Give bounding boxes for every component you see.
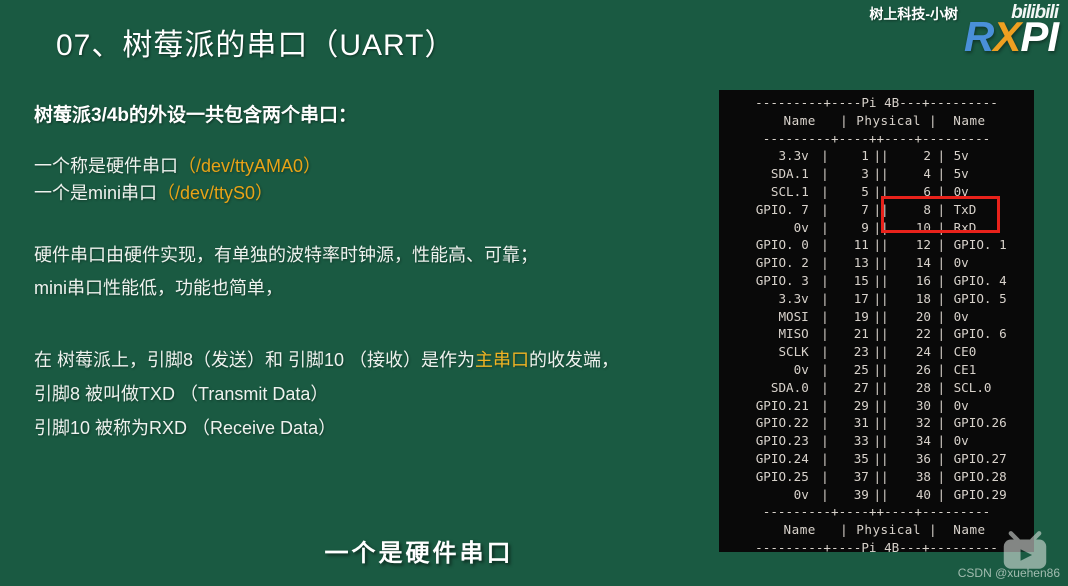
gpio-row-separator: ||	[869, 432, 893, 450]
gpio-row-separator: |	[931, 379, 952, 397]
gpio-row-separator: ||	[869, 486, 893, 504]
paragraph-comparison-line-2: mini串口性能低，功能也简单，	[34, 272, 704, 305]
gpio-row-name-right: GPIO. 5	[952, 290, 1034, 308]
gpio-row-pin-left: 9	[837, 219, 869, 237]
gpio-row-separator: |	[931, 486, 952, 504]
gpio-row-pin-right: 32	[893, 414, 931, 432]
gpio-row-separator: |	[813, 254, 837, 272]
gpio-row-name-left: 0v	[719, 486, 813, 504]
gpio-row-separator: ||	[869, 361, 893, 379]
rxpi-logo: RXPI	[964, 16, 1058, 58]
gpio-row-separator: |	[931, 397, 952, 415]
gpio-row-name-left: 3.3v	[719, 147, 813, 165]
bullet-hardware-uart-device: （/dev/ttyAMA0）	[178, 156, 321, 176]
gpio-row-pin-left: 31	[837, 414, 869, 432]
gpio-row-name-left: 0v	[719, 361, 813, 379]
gpio-row-name-left: SDA.0	[719, 379, 813, 397]
gpio-row-pin-right: 10	[893, 219, 931, 237]
gpio-row-pin-right: 8	[893, 201, 931, 219]
gpio-row-separator: ||	[869, 147, 893, 165]
gpio-row-separator: |	[931, 343, 952, 361]
gpio-row-separator: ||	[869, 308, 893, 326]
gpio-row-pin-right: 18	[893, 290, 931, 308]
gpio-row-name-right: RxD	[952, 219, 1034, 237]
gpio-row: GPIO. 2|13||14|0v	[719, 254, 1034, 272]
gpio-row: SCL.1|5||6|0v	[719, 183, 1034, 201]
gpio-row-name-right: GPIO.26	[952, 414, 1034, 432]
gpio-row: GPIO.25|37||38|GPIO.28	[719, 468, 1034, 486]
gpio-row: 3.3v|17||18|GPIO. 5	[719, 290, 1034, 308]
gpio-row-pin-left: 21	[837, 325, 869, 343]
gpio-row: GPIO.21|29||30|0v	[719, 397, 1034, 415]
gpio-row-name-left: GPIO.25	[719, 468, 813, 486]
gpio-row: SDA.1|3||4|5v	[719, 165, 1034, 183]
gpio-row-separator: |	[931, 219, 952, 237]
gpio-row-pin-left: 1	[837, 147, 869, 165]
gpio-row: GPIO.23|33||34|0v	[719, 432, 1034, 450]
gpio-row-pin-left: 17	[837, 290, 869, 308]
gpio-row-separator: |	[813, 219, 837, 237]
gpio-row-separator: |	[813, 201, 837, 219]
slide-caption: 一个是硬件串口	[0, 533, 1068, 568]
gpio-row: MISO|21||22|GPIO. 6	[719, 325, 1034, 343]
gpio-row-pin-left: 37	[837, 468, 869, 486]
gpio-row-name-left: GPIO. 3	[719, 272, 813, 290]
gpio-row-separator: ||	[869, 201, 893, 219]
pins-line-1-post: 的收发端，	[529, 350, 619, 370]
gpio-row-name-right: SCL.0	[952, 379, 1034, 397]
logo-letter-r: R	[964, 13, 993, 60]
gpio-row-pin-left: 3	[837, 165, 869, 183]
gpio-row-separator: |	[813, 290, 837, 308]
gpio-row: SDA.0|27||28|SCL.0	[719, 379, 1034, 397]
gpio-row-name-left: SDA.1	[719, 165, 813, 183]
gpio-row-separator: |	[931, 272, 952, 290]
gpio-row-name-right: CE1	[952, 361, 1034, 379]
gpio-row-separator: |	[813, 468, 837, 486]
gpio-row-pin-right: 30	[893, 397, 931, 415]
gpio-row-name-left: GPIO. 0	[719, 236, 813, 254]
gpio-row-pin-right: 4	[893, 165, 931, 183]
gpio-row-separator: ||	[869, 254, 893, 272]
gpio-row: GPIO. 3|15||16|GPIO. 4	[719, 272, 1034, 290]
gpio-row-name-left: MISO	[719, 325, 813, 343]
logo-letter-x: X	[993, 13, 1020, 60]
gpio-row-name-left: MOSI	[719, 308, 813, 326]
gpio-row-separator: ||	[869, 325, 893, 343]
gpio-row-separator: |	[931, 432, 952, 450]
slide-body: 树莓派3/4b的外设一共包含两个串口： 一个称是硬件串口（/dev/ttyAMA…	[34, 100, 704, 445]
gpio-row-separator: |	[813, 486, 837, 504]
gpio-row-name-right: GPIO.28	[952, 468, 1034, 486]
gpio-row-separator: |	[813, 450, 837, 468]
gpio-row-pin-right: 2	[893, 147, 931, 165]
gpio-row-separator: |	[931, 450, 952, 468]
gpio-row: 0v|25||26|CE1	[719, 361, 1034, 379]
gpio-row-separator: |	[813, 343, 837, 361]
gpio-row-separator: |	[931, 147, 952, 165]
gpio-row-separator: ||	[869, 343, 893, 361]
gpio-row-name-right: GPIO. 6	[952, 325, 1034, 343]
channel-name: 树上科技-小树	[869, 4, 958, 24]
paragraph-pins: 在 树莓派上，引脚8（发送）和 引脚10 （接收）是作为主串口的收发端， 引脚8…	[34, 343, 704, 445]
paragraph-pins-line-3: 引脚10 被称为RXD （Receive Data）	[34, 411, 704, 445]
gpio-row-separator: |	[813, 183, 837, 201]
bullet-mini-uart-device: （/dev/ttyS0）	[157, 183, 273, 203]
gpio-row-pin-right: 24	[893, 343, 931, 361]
gpio-row-pin-right: 12	[893, 236, 931, 254]
gpio-row-pin-right: 38	[893, 468, 931, 486]
gpio-row-name-left: GPIO. 7	[719, 201, 813, 219]
gpio-row-separator: ||	[869, 236, 893, 254]
gpio-row-separator: ||	[869, 219, 893, 237]
gpio-row-separator: |	[813, 432, 837, 450]
gpio-row-pin-left: 25	[837, 361, 869, 379]
gpio-row-list: 3.3v|1||2|5vSDA.1|3||4|5vSCL.1|5||6|0vGP…	[719, 147, 1034, 503]
gpio-row-separator: |	[931, 325, 952, 343]
gpio-row-name-left: GPIO.24	[719, 450, 813, 468]
slide-canvas: 07、树莓派的串口（UART） 树上科技-小树 bilibili RXPI 树莓…	[0, 0, 1068, 586]
gpio-row-name-right: GPIO. 4	[952, 272, 1034, 290]
gpio-row-pin-right: 34	[893, 432, 931, 450]
page-title: 07、树莓派的串口（UART）	[56, 20, 456, 64]
gpio-row: GPIO. 7|7||8|TxD	[719, 201, 1034, 219]
gpio-row-pin-left: 39	[837, 486, 869, 504]
terminal-header-top: Name | Physical | Name	[719, 112, 1034, 130]
slide-caption-text: 一个是硬件串口	[325, 533, 514, 568]
gpio-row-pin-left: 29	[837, 397, 869, 415]
pins-line-1-pre: 在 树莓派上，引脚8（发送）和 引脚10 （接收）是作为	[34, 350, 475, 370]
gpio-row-name-left: 3.3v	[719, 290, 813, 308]
gpio-row-pin-right: 22	[893, 325, 931, 343]
gpio-row-pin-right: 26	[893, 361, 931, 379]
logo-letter-pi: PI	[1020, 13, 1058, 60]
csdn-watermark: CSDN @xuehen86	[958, 566, 1060, 580]
gpio-row: GPIO. 0|11||12|GPIO. 1	[719, 236, 1034, 254]
gpio-row-pin-right: 40	[893, 486, 931, 504]
gpio-row-name-right: 0v	[952, 397, 1034, 415]
gpio-row-name-right: CE0	[952, 343, 1034, 361]
gpio-row-pin-left: 33	[837, 432, 869, 450]
gpio-row-pin-right: 6	[893, 183, 931, 201]
gpio-row-separator: ||	[869, 183, 893, 201]
bullet-mini-uart-label: 一个是mini串口	[34, 183, 157, 203]
gpio-row-separator: |	[813, 272, 837, 290]
gpio-row-separator: |	[931, 165, 952, 183]
gpio-row: 0v|9||10|RxD	[719, 219, 1034, 237]
gpio-row-separator: ||	[869, 414, 893, 432]
gpio-row-separator: |	[931, 468, 952, 486]
gpio-row-name-right: TxD	[952, 201, 1034, 219]
gpio-row-name-right: 0v	[952, 432, 1034, 450]
gpio-row-separator: ||	[869, 290, 893, 308]
gpio-row-separator: |	[813, 308, 837, 326]
gpio-row-pin-left: 11	[837, 236, 869, 254]
gpio-row-pin-left: 35	[837, 450, 869, 468]
gpio-row-name-right: 0v	[952, 254, 1034, 272]
gpio-row-separator: |	[931, 254, 952, 272]
gpio-row-separator: ||	[869, 450, 893, 468]
gpio-row-pin-right: 20	[893, 308, 931, 326]
gpio-row-name-right: 5v	[952, 165, 1034, 183]
gpio-row: GPIO.22|31||32|GPIO.26	[719, 414, 1034, 432]
gpio-row-separator: |	[931, 361, 952, 379]
gpio-row-separator: |	[813, 361, 837, 379]
gpio-row-pin-left: 19	[837, 308, 869, 326]
gpio-row-name-right: 5v	[952, 147, 1034, 165]
bullet-mini-uart: 一个是mini串口（/dev/ttyS0）	[34, 180, 704, 207]
gpio-row-separator: ||	[869, 165, 893, 183]
gpio-row-separator: |	[931, 183, 952, 201]
gpio-row-separator: ||	[869, 379, 893, 397]
paragraph-pins-line-1: 在 树莓派上，引脚8（发送）和 引脚10 （接收）是作为主串口的收发端，	[34, 343, 704, 377]
gpio-row-name-right: GPIO.27	[952, 450, 1034, 468]
gpio-row-separator: |	[813, 147, 837, 165]
gpio-row-pin-left: 13	[837, 254, 869, 272]
gpio-row-separator: ||	[869, 397, 893, 415]
gpio-row: 3.3v|1||2|5v	[719, 147, 1034, 165]
gpio-row-name-right: 0v	[952, 308, 1034, 326]
paragraph-comparison-line-1: 硬件串口由硬件实现，有单独的波特率时钟源，性能高、可靠；	[34, 239, 704, 272]
gpio-row: MOSI|19||20|0v	[719, 308, 1034, 326]
gpio-row-separator: |	[813, 397, 837, 415]
gpio-row-separator: |	[813, 325, 837, 343]
gpio-row-name-left: 0v	[719, 219, 813, 237]
terminal-rule-top: ---------+----Pi 4B---+---------	[719, 94, 1034, 112]
gpio-row-separator: |	[813, 165, 837, 183]
gpio-row-name-left: SCL.1	[719, 183, 813, 201]
gpio-row-pin-left: 23	[837, 343, 869, 361]
gpio-row-pin-right: 36	[893, 450, 931, 468]
gpio-row-name-left: GPIO.21	[719, 397, 813, 415]
gpio-row-separator: |	[931, 414, 952, 432]
terminal-rule-mid: ---------+----++----+---------	[719, 130, 1034, 148]
gpio-row-separator: ||	[869, 272, 893, 290]
paragraph-comparison: 硬件串口由硬件实现，有单独的波特率时钟源，性能高、可靠； mini串口性能低，功…	[34, 239, 704, 305]
gpio-row-separator: |	[931, 201, 952, 219]
bullet-hardware-uart: 一个称是硬件串口（/dev/ttyAMA0）	[34, 153, 704, 180]
gpio-row-pin-right: 16	[893, 272, 931, 290]
gpio-row-separator: |	[931, 308, 952, 326]
terminal-rule-bottom: ---------+----++----+---------	[719, 503, 1034, 521]
gpio-row-name-right: GPIO. 1	[952, 236, 1034, 254]
gpio-row-separator: |	[813, 414, 837, 432]
gpio-row-name-right: GPIO.29	[952, 486, 1034, 504]
gpio-row-name-left: SCLK	[719, 343, 813, 361]
paragraph-pins-line-2: 引脚8 被叫做TXD （Transmit Data）	[34, 377, 704, 411]
gpio-row: SCLK|23||24|CE0	[719, 343, 1034, 361]
gpio-row-pin-left: 7	[837, 201, 869, 219]
pins-line-1-highlight: 主串口	[475, 350, 529, 370]
gpio-row-separator: ||	[869, 468, 893, 486]
gpio-row-pin-left: 5	[837, 183, 869, 201]
gpio-row-pin-left: 27	[837, 379, 869, 397]
gpio-row-separator: |	[931, 290, 952, 308]
gpio-row-separator: |	[931, 236, 952, 254]
lead-text: 树莓派3/4b的外设一共包含两个串口：	[34, 100, 704, 127]
gpio-row-pin-left: 15	[837, 272, 869, 290]
gpio-row-name-right: 0v	[952, 183, 1034, 201]
gpio-row-pin-right: 28	[893, 379, 931, 397]
gpio-row: 0v|39||40|GPIO.29	[719, 486, 1034, 504]
gpio-row-separator: |	[813, 379, 837, 397]
bullet-hardware-uart-label: 一个称是硬件串口	[34, 156, 178, 176]
gpio-row-name-left: GPIO.22	[719, 414, 813, 432]
gpio-row-name-left: GPIO.23	[719, 432, 813, 450]
gpio-row: GPIO.24|35||36|GPIO.27	[719, 450, 1034, 468]
gpio-row-name-left: GPIO. 2	[719, 254, 813, 272]
gpio-row-pin-right: 14	[893, 254, 931, 272]
gpio-pinout-terminal: ---------+----Pi 4B---+--------- Name | …	[719, 90, 1034, 552]
gpio-row-separator: |	[813, 236, 837, 254]
